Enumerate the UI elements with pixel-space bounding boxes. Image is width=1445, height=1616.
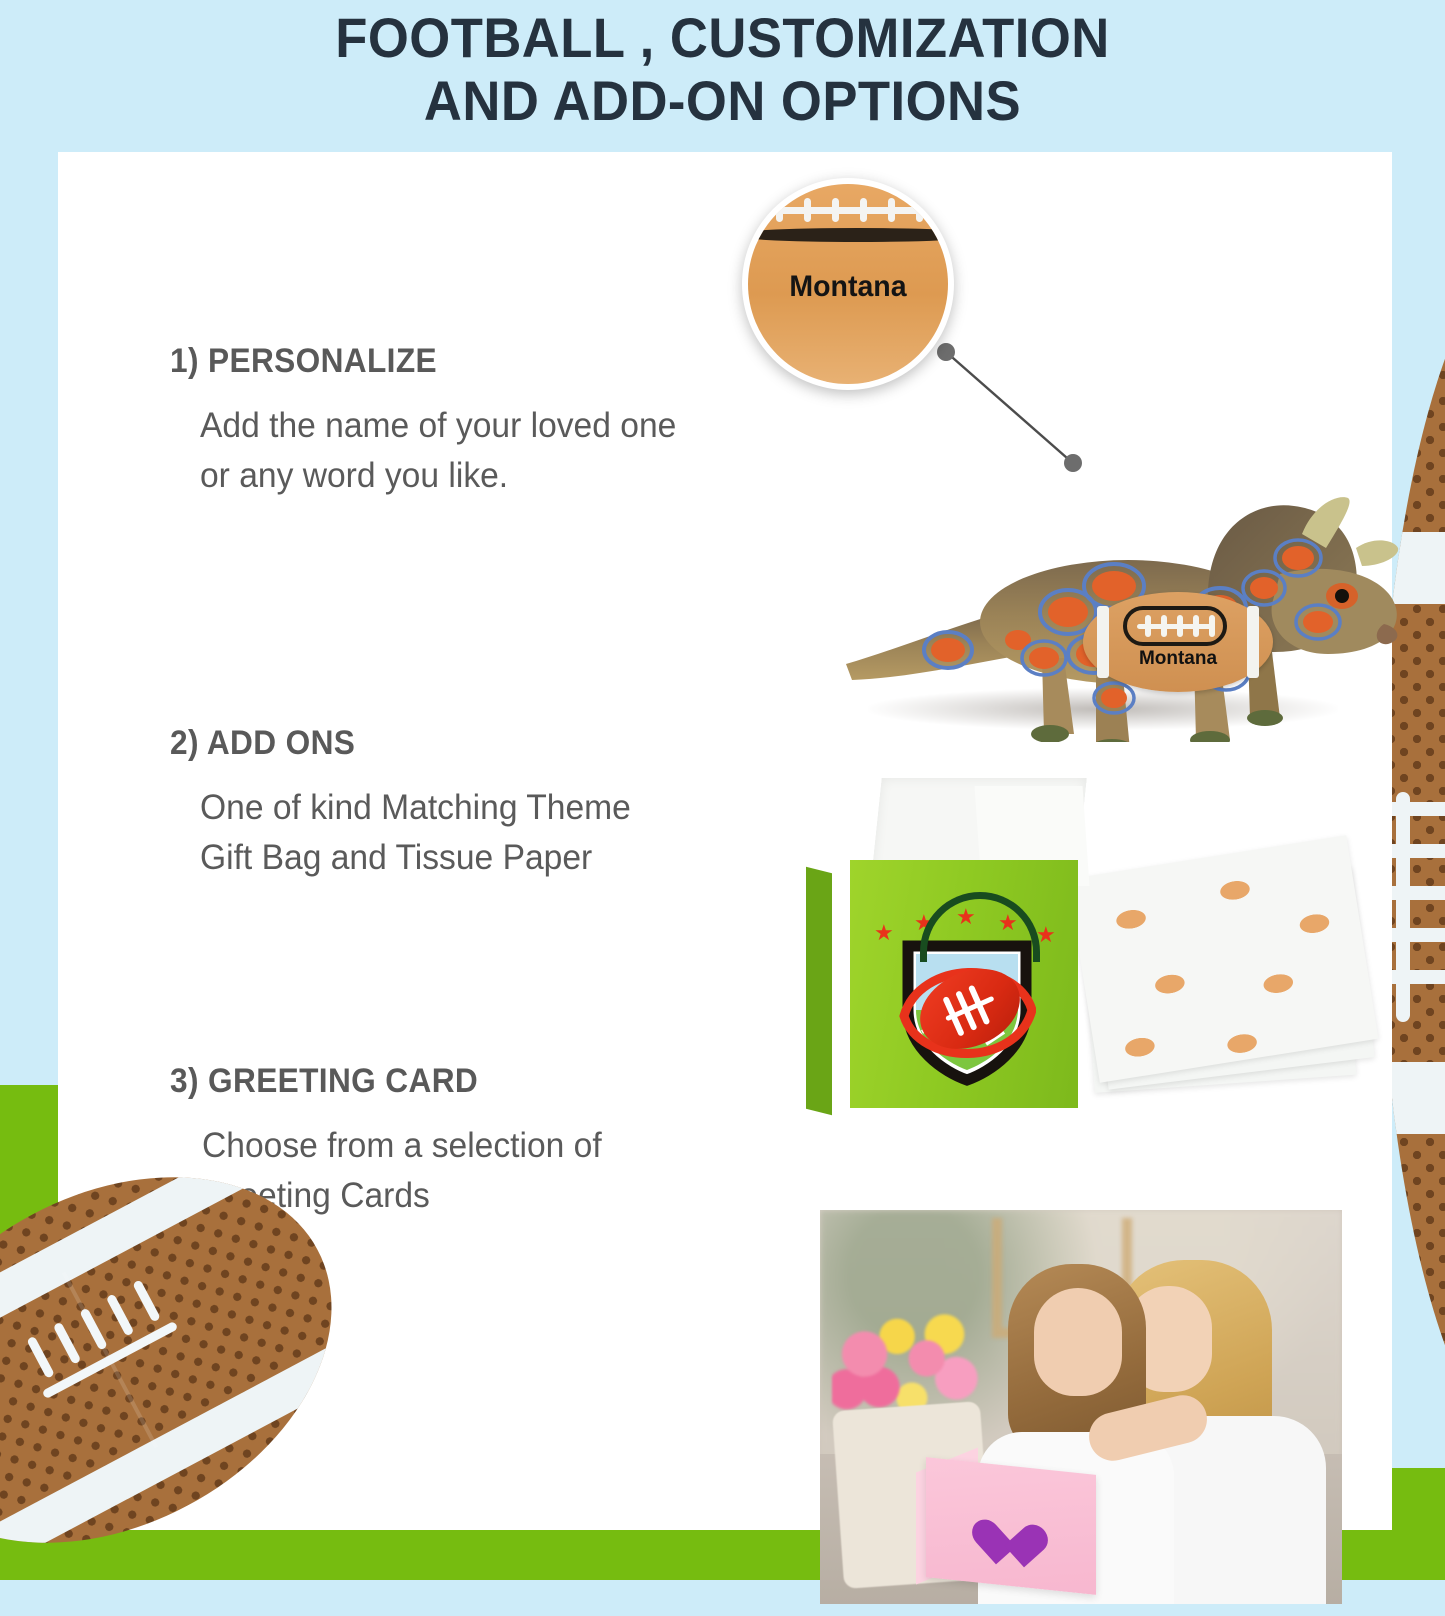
football-lace: [132, 1279, 161, 1322]
zoom-bubble-inner: Montana: [748, 184, 948, 384]
page-title: FOOTBALL , CUSTOMIZATION AND ADD-ON OPTI…: [43, 6, 1401, 133]
football-patch-magnified-icon: Montana: [742, 178, 954, 390]
gift-bag-front: ★ ★ ★ ★ ★: [850, 860, 1078, 1108]
zoom-lace: [832, 198, 839, 222]
gift-bag-side-panel: [806, 867, 832, 1115]
mother-and-daughter-reading-card-photo: [820, 1210, 1342, 1604]
football-lace: [26, 1336, 55, 1379]
football-lace: [53, 1322, 82, 1365]
step-body: Add the name of your loved one or any wo…: [200, 401, 676, 500]
zoom-lace: [916, 198, 923, 222]
callout-line-icon: [937, 343, 1083, 473]
patch-lace: [1193, 615, 1199, 637]
step-heading: 3) GREETING CARD: [170, 1062, 587, 1101]
zoom-seam-line: [748, 228, 948, 242]
zoom-lace-main: [774, 207, 924, 214]
step-heading: 1) PERSONALIZE: [170, 342, 659, 381]
patch-name-text: Montana: [1083, 648, 1273, 670]
step-body: One of kind Matching Theme Gift Bag and …: [200, 783, 631, 882]
zoom-bubble-name-text: Montana: [753, 270, 943, 304]
zoom-lace: [804, 198, 811, 222]
zoom-lace: [776, 198, 783, 222]
patch-lace: [1161, 615, 1167, 637]
gift-bag-handle: [920, 892, 1040, 962]
zoom-lace: [888, 198, 895, 222]
step-heading: 2) ADD ONS: [170, 724, 615, 763]
football-lace: [79, 1308, 108, 1351]
triceratops-plush-toy-icon: Montana: [828, 482, 1408, 782]
football-lace: [1396, 792, 1410, 1022]
green-gift-bag-icon: ★ ★ ★ ★ ★: [828, 772, 1388, 1142]
zoom-lace: [860, 198, 867, 222]
step-add-ons: 2) ADD ONS One of kind Matching Theme Gi…: [170, 724, 649, 882]
patch-lace: [1177, 615, 1183, 637]
football-lace: [106, 1293, 135, 1336]
heart-icon: [984, 1521, 1036, 1572]
zoom-lace-row: [774, 198, 924, 222]
patch-lace: [1145, 615, 1151, 637]
step-personalize: 1) PERSONALIZE Add the name of your love…: [170, 342, 696, 500]
greeting-card-icon: [926, 1457, 1096, 1595]
photo-daughter-face: [1034, 1288, 1122, 1396]
patch-lace: [1209, 615, 1215, 637]
football-name-patch: Montana: [1083, 592, 1273, 692]
